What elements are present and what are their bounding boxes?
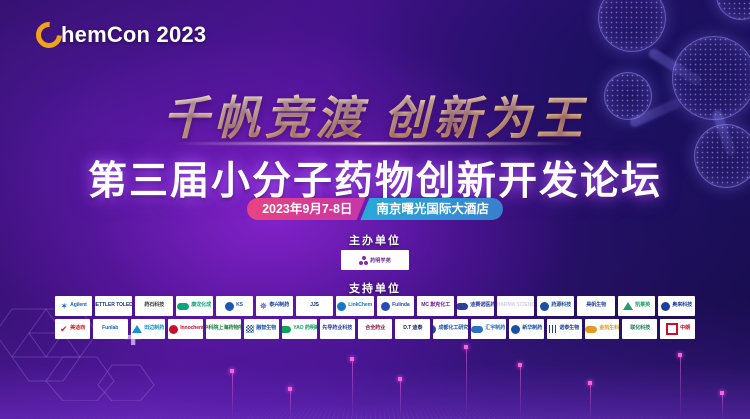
sponsor-logo[interactable]: Fulinda bbox=[377, 296, 414, 316]
sponsor-row: ✔美迪西Funlab田边制药Innochem中科院上海药物所融智生物YAO 药明… bbox=[55, 319, 695, 339]
sponsor-name: Agilent bbox=[70, 303, 87, 308]
sponsor-logo[interactable]: 诺泰生物 bbox=[547, 319, 582, 339]
slogan-text: 千帆竞渡 创新为王 bbox=[163, 82, 588, 148]
sponsor-name: 新华制药 bbox=[522, 326, 542, 331]
sponsor-name: KS bbox=[236, 303, 243, 308]
triangle-mark-icon bbox=[623, 302, 633, 310]
sponsor-name: Funlab bbox=[102, 326, 118, 331]
sponsor-name: 康龙化成 bbox=[191, 303, 211, 308]
square-mark-icon bbox=[666, 323, 678, 335]
sponsor-logo[interactable]: 田边制药 bbox=[131, 319, 166, 339]
circle-mark-icon bbox=[225, 302, 234, 311]
sponsor-name: Innochem bbox=[180, 326, 203, 331]
sponsor-name: 先导药业科技 bbox=[322, 326, 352, 331]
sponsor-logo[interactable]: 汇宇制药 bbox=[471, 319, 506, 339]
spark-dot bbox=[720, 391, 724, 395]
sponsor-name: 药石科技 bbox=[144, 303, 164, 308]
date-badge: 2023年9月7-8日 bbox=[247, 198, 365, 220]
bars-mark-icon bbox=[549, 325, 557, 333]
oval-mark-icon bbox=[471, 326, 483, 333]
sponsor-name: 泰兴制药 bbox=[269, 303, 289, 308]
slogan: 千帆竞渡 创新为王 bbox=[0, 82, 750, 148]
sponsor-name: D.T 迪泰 bbox=[403, 326, 422, 331]
sponsor-name: 成都化工研究院 bbox=[439, 326, 468, 331]
oval-mark-icon bbox=[585, 326, 597, 333]
molecule-sphere bbox=[598, 0, 666, 52]
sponsor-logo[interactable]: PHARMA SCIENCE bbox=[497, 296, 534, 316]
spark-dot bbox=[230, 369, 234, 373]
sponsor-name: 奥来科技 bbox=[672, 303, 692, 308]
host-section-heading: 主办单位 bbox=[0, 232, 750, 248]
molecule-trio-icon bbox=[359, 256, 368, 265]
sponsor-logo[interactable]: Funlab bbox=[93, 319, 128, 339]
spark-column bbox=[352, 359, 353, 419]
circle-mark-icon bbox=[169, 325, 178, 334]
spark-column bbox=[290, 389, 291, 419]
sponsor-name: 中朗 bbox=[680, 326, 690, 331]
brand-name: hemCon 2023 bbox=[61, 22, 206, 48]
sponsor-logo[interactable]: 合全药业 bbox=[358, 319, 393, 339]
spark-column bbox=[722, 393, 723, 419]
sponsor-name: 诺泰生物 bbox=[559, 326, 579, 331]
sponsor-logo[interactable]: METTLER TOLEDO bbox=[95, 296, 132, 316]
sponsor-name: 凯莱英 bbox=[635, 303, 650, 308]
spark-dot bbox=[288, 387, 292, 391]
sponsor-logo[interactable]: Innochem bbox=[168, 319, 203, 339]
sponsor-name: 田边制药 bbox=[144, 326, 164, 331]
sponsor-grid: ✶AgilentMETTLER TOLEDO药石科技康龙化成KS✵泰兴制药JJS… bbox=[55, 296, 695, 342]
oval-mark-icon bbox=[177, 303, 189, 310]
sponsor-row: ✶AgilentMETTLER TOLEDO药石科技康龙化成KS✵泰兴制药JJS… bbox=[55, 296, 695, 316]
sponsor-logo[interactable]: MC 默克化工 bbox=[417, 296, 454, 316]
sponsor-name: 美迪西 bbox=[70, 326, 85, 331]
sponsor-name: Fulinda bbox=[392, 303, 409, 308]
mesh-grid bbox=[0, 400, 750, 419]
qr-mark-icon bbox=[246, 325, 254, 333]
sponsor-logo[interactable]: 药源科技 bbox=[537, 296, 574, 316]
oval-mark-icon bbox=[282, 326, 291, 333]
spark-column bbox=[400, 379, 401, 419]
star-mark-icon: ✶ bbox=[60, 301, 68, 312]
spark-dot bbox=[464, 345, 468, 349]
spark-dot bbox=[350, 357, 354, 361]
sponsor-name: 中科院上海药物所 bbox=[206, 326, 241, 331]
slogan-underline bbox=[175, 142, 575, 145]
spark-dot bbox=[588, 381, 592, 385]
sponsor-logo[interactable]: YAO 药明新 bbox=[282, 319, 317, 339]
sponsor-logo[interactable]: 迪赛诺医药 bbox=[457, 296, 494, 316]
sponsor-name: JJS bbox=[310, 303, 319, 308]
sponsor-name: LinkChem bbox=[349, 303, 373, 308]
spark-column bbox=[232, 371, 233, 419]
sponsor-logo[interactable]: 金凯生科 bbox=[585, 319, 620, 339]
sponsor-logo[interactable]: 中科院上海药物所 bbox=[206, 319, 241, 339]
sponsor-name: YAO 药明新 bbox=[293, 326, 317, 331]
circle-mark-icon bbox=[433, 325, 436, 334]
sponsor-logo[interactable]: 融智生物 bbox=[244, 319, 279, 339]
event-badges: 2023年9月7-8日 南京曙光国际大酒店 bbox=[0, 198, 750, 220]
sponsor-logo[interactable]: ✶Agilent bbox=[55, 296, 92, 316]
molecule-sphere bbox=[716, 0, 750, 20]
spark-dot bbox=[518, 363, 522, 367]
spark-column bbox=[520, 365, 521, 419]
sponsor-name: PHARMA SCIENCE bbox=[497, 303, 534, 308]
brand-logo: hemCon 2023 bbox=[36, 22, 206, 48]
sponsor-logo[interactable]: 凯莱英 bbox=[618, 296, 655, 316]
spark-column bbox=[680, 355, 681, 419]
support-section-heading: 支持单位 bbox=[0, 280, 750, 296]
host-logo-wrap: 药明学苑 bbox=[0, 250, 750, 270]
sponsor-logo[interactable]: 昊帆生物 bbox=[577, 296, 614, 316]
sponsor-logo[interactable]: ✵泰兴制药 bbox=[256, 296, 293, 316]
spark-dot bbox=[398, 377, 402, 381]
sponsor-logo[interactable]: 中朗 bbox=[660, 319, 695, 339]
spark-column bbox=[590, 383, 591, 419]
burst-mark-icon: ✵ bbox=[260, 301, 268, 312]
sponsor-logo[interactable]: 新华制药 bbox=[509, 319, 544, 339]
sponsor-logo[interactable]: KS bbox=[216, 296, 253, 316]
sponsor-name: METTLER TOLEDO bbox=[95, 303, 132, 308]
triangle-mark-icon bbox=[132, 325, 142, 333]
sponsor-name: 迪赛诺医药 bbox=[470, 303, 494, 308]
sponsor-logo[interactable]: ✔美迪西 bbox=[55, 319, 90, 339]
sponsor-logo[interactable]: 康龙化成 bbox=[176, 296, 213, 316]
spark-column bbox=[466, 347, 467, 419]
sponsor-name: 汇宇制药 bbox=[486, 326, 506, 331]
sponsor-name: 联化科技 bbox=[630, 326, 650, 331]
host-logo-name: 药明学苑 bbox=[370, 257, 391, 264]
sponsor-name: 金凯生科 bbox=[599, 326, 619, 331]
sponsor-name: 药源科技 bbox=[551, 303, 571, 308]
sponsor-logo[interactable]: 药石科技 bbox=[135, 296, 172, 316]
circle-mark-icon bbox=[381, 302, 390, 311]
spark-dot bbox=[678, 353, 682, 357]
check-mark-icon: ✔ bbox=[60, 324, 68, 335]
sponsor-logo[interactable]: 奥来科技 bbox=[658, 296, 695, 316]
sponsor-logo[interactable]: 先导药业科技 bbox=[320, 319, 355, 339]
circle-mark-icon bbox=[661, 302, 670, 311]
circle-mark-icon bbox=[511, 325, 520, 334]
oval-mark-icon bbox=[457, 303, 468, 310]
sponsor-logo[interactable]: JJS bbox=[296, 296, 333, 316]
sponsor-name: 合全药业 bbox=[365, 326, 385, 331]
circle-mark-icon bbox=[337, 302, 346, 311]
venue-badge: 南京曙光国际大酒店 bbox=[360, 198, 503, 220]
sponsor-logo[interactable]: 联化科技 bbox=[622, 319, 657, 339]
sponsor-logo[interactable]: LinkChem bbox=[336, 296, 373, 316]
sponsor-name: MC 默克化工 bbox=[421, 303, 450, 308]
sponsor-logo[interactable]: 成都化工研究院 bbox=[433, 319, 468, 339]
conference-banner: ✚ hemCon 2023 千帆竞渡 创新为王 第三届小分子药物创新开发论坛 2… bbox=[0, 0, 750, 419]
host-logo: 药明学苑 bbox=[341, 250, 409, 270]
circle-mark-icon bbox=[540, 302, 549, 311]
sponsor-logo[interactable]: D.T 迪泰 bbox=[395, 319, 430, 339]
sponsor-name: 融智生物 bbox=[257, 326, 277, 331]
sponsor-name: 昊帆生物 bbox=[586, 303, 606, 308]
